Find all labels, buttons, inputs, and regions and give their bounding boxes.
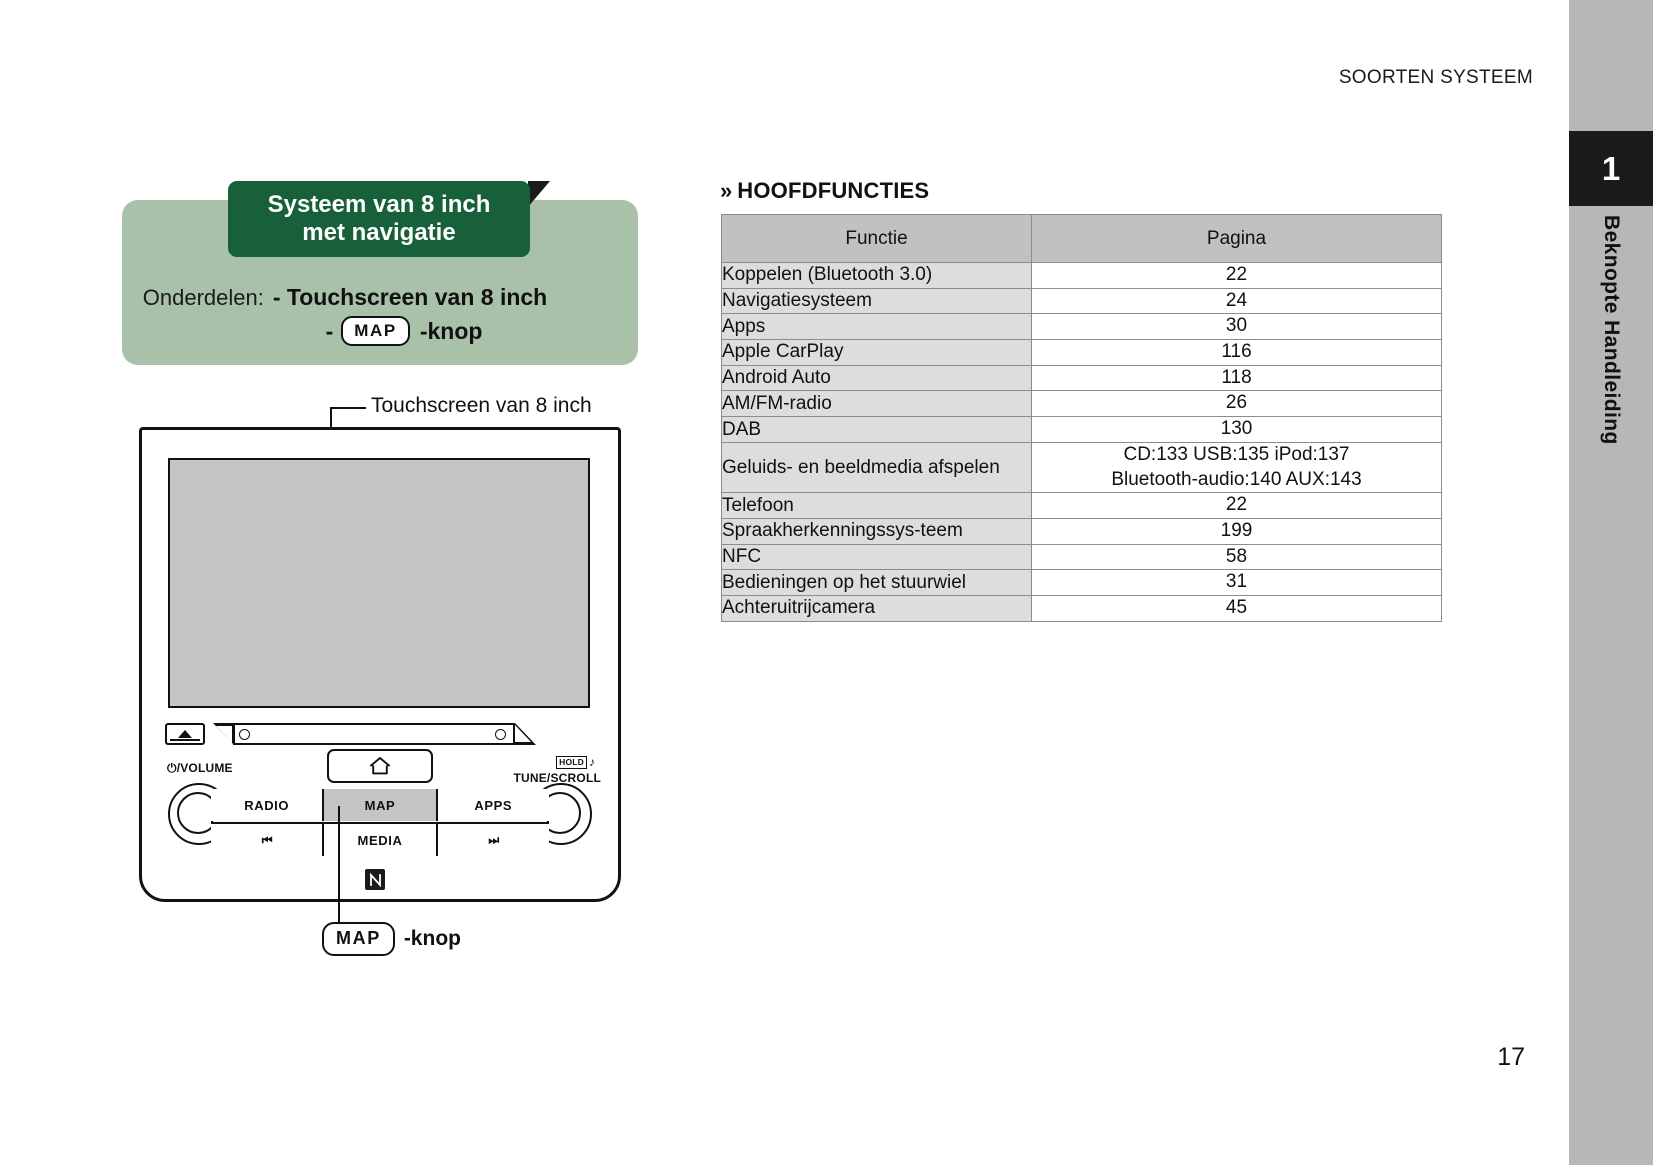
page-ref: 45 [1032,596,1441,621]
page-ref: 58 [1032,545,1441,570]
eject-icon [178,730,192,738]
table-header-row: Functie Pagina [722,215,1442,263]
head-unit-diagram: ⏻/VOLUME HOLD ♪ TUNE/SCROLL RADIO MAP AP… [139,427,621,902]
table-row: NFC58 [722,544,1442,570]
cell-pagina: 199 [1032,518,1442,544]
parts-item-1-dash: - [273,284,281,310]
previous-track-icon: ⏮ [262,833,272,848]
page-ref: 118 [1032,366,1441,391]
cell-functie: DAB [722,417,1032,443]
cell-pagina: 26 [1032,391,1442,417]
slot-indicator-right-icon [495,729,506,740]
map-button-callout-suffix: -knop [404,927,461,951]
main-functions-table: Functie Pagina Koppelen (Bluetooth 3.0)2… [721,214,1442,622]
table-row: Achteruitrijcamera45 [722,595,1442,621]
chapter-number: 1 [1602,152,1620,185]
table-row: DAB130 [722,417,1442,443]
cell-pagina: 116 [1032,340,1442,366]
page-ref: Bluetooth-audio:140 AUX:143 [1032,468,1441,493]
chapter-number-tab[interactable]: 1 [1569,131,1653,206]
table-row: Apps30 [722,314,1442,340]
cell-functie: Achteruitrijcamera [722,595,1032,621]
parts-label: Onderdelen: [143,285,264,311]
cell-functie: Apple CarPlay [722,340,1032,366]
page-ref: 22 [1032,263,1441,288]
section-heading: » HOOFDFUNCTIES [720,178,929,204]
column-header-functie: Functie [722,215,1032,263]
parts-row-2: - MAP -knop [0,316,690,346]
right-column: » HOOFDFUNCTIES Functie Pagina Koppelen … [700,0,1500,1165]
map-button-leader-line [338,806,340,924]
table-row: Apple CarPlay116 [722,340,1442,366]
cell-pagina: 22 [1032,493,1442,519]
cell-pagina: 24 [1032,288,1442,314]
cell-pagina: 118 [1032,365,1442,391]
table-row: AM/FM-radio26 [722,391,1442,417]
cell-functie: Geluids- en beeldmedia afspelen [722,442,1032,492]
banner-line-2: met navigatie [302,219,455,247]
chapter-rail: 1 Beknopte Handleiding [1569,0,1653,1165]
page-ref: 30 [1032,314,1441,339]
touchscreen-leader-horizontal [330,407,366,409]
cell-functie: Apps [722,314,1032,340]
map-button-chip-bottom: MAP [322,922,395,956]
home-button[interactable] [327,749,433,783]
table-row: Navigatiesysteem24 [722,288,1442,314]
button-cluster: RADIO MAP APPS ⏮ MEDIA ⏭ [211,789,549,855]
table-row: Geluids- en beeldmedia afspelenCD:133 US… [722,442,1442,492]
table-row: Android Auto118 [722,365,1442,391]
system-callout-banner: Systeem van 8 inch met navigatie [228,181,530,257]
map-button-chip: MAP [341,316,410,346]
cell-pagina: 45 [1032,595,1442,621]
cell-functie: AM/FM-radio [722,391,1032,417]
cell-pagina: 130 [1032,417,1442,443]
cell-functie: NFC [722,544,1032,570]
page-ref: 116 [1032,340,1441,365]
table-body: Koppelen (Bluetooth 3.0)22Navigatiesyste… [722,263,1442,622]
slot-body [233,723,515,745]
map-button-callout: MAP -knop [322,922,461,956]
nfc-icon [365,869,385,890]
cell-functie: Spraakherkenningssys-teem [722,518,1032,544]
touchscreen-callout-label: Touchscreen van 8 inch [371,394,592,418]
page-ref: 22 [1032,493,1441,518]
media-button[interactable]: MEDIA [324,824,437,856]
cell-functie: Telefoon [722,493,1032,519]
music-note-icon: ♪ [589,756,595,768]
parts-row-1: Onderdelen: - Touchscreen van 8 inch [0,284,690,311]
volume-knob-label: ⏻/VOLUME [167,761,233,776]
banner-line-1: Systeem van 8 inch [268,191,491,219]
parts-item-2-dash: - [326,318,334,345]
cell-pagina: CD:133 USB:135 iPod:137Bluetooth-audio:1… [1032,442,1442,492]
table-row: Spraakherkenningssys-teem199 [722,518,1442,544]
cell-pagina: 58 [1032,544,1442,570]
page-ref: 199 [1032,519,1441,544]
cell-pagina: 31 [1032,570,1442,596]
rail-label-wrap: Beknopte Handleiding [1569,215,1653,775]
home-icon [369,756,391,776]
next-track-icon: ⏭ [488,833,498,848]
next-track-button[interactable]: ⏭ [438,824,549,856]
previous-track-button[interactable]: ⏮ [211,824,324,856]
hold-badge: HOLD ♪ [556,756,595,769]
chapter-tab-top [1569,0,1653,75]
disc-slot [213,723,535,745]
cell-pagina: 22 [1032,263,1442,289]
chevron-double-right-icon: » [720,180,732,202]
eject-button[interactable] [165,723,205,745]
rail-label: Beknopte Handleiding [1599,215,1623,445]
parts-item-1: - Touchscreen van 8 inch [273,284,547,311]
apps-button[interactable]: APPS [438,789,549,821]
page-ref: CD:133 USB:135 iPod:137 [1032,443,1441,468]
hold-chip-label: HOLD [556,756,587,769]
map-button[interactable]: MAP [324,789,437,821]
page-ref: 130 [1032,417,1441,442]
left-column: Systeem van 8 inch met navigatie Onderde… [0,0,690,1165]
page-ref: 24 [1032,289,1441,314]
button-row-top: RADIO MAP APPS [211,789,549,821]
page-number: 17 [1497,1043,1525,1072]
cell-functie: Koppelen (Bluetooth 3.0) [722,263,1032,289]
radio-button[interactable]: RADIO [211,789,324,821]
slot-left-wedge-inner [216,726,232,743]
button-row-bottom: ⏮ MEDIA ⏭ [211,822,549,856]
touchscreen-display [168,458,590,708]
table-row: Bedieningen op het stuurwiel31 [722,570,1442,596]
parts-item-2-suffix: -knop [420,318,483,345]
column-header-pagina: Pagina [1032,215,1442,263]
table-row: Telefoon22 [722,493,1442,519]
section-heading-text: HOOFDFUNCTIES [737,178,929,204]
slot-indicator-left-icon [239,729,250,740]
eject-icon-bar [170,739,200,741]
table-row: Koppelen (Bluetooth 3.0)22 [722,263,1442,289]
cell-functie: Navigatiesysteem [722,288,1032,314]
cell-pagina: 30 [1032,314,1442,340]
cell-functie: Android Auto [722,365,1032,391]
page-ref: 31 [1032,570,1441,595]
slot-right-wedge-inner [515,725,531,742]
parts-item-1-text: Touchscreen van 8 inch [287,284,547,310]
banner-fold-corner [528,181,550,207]
cell-functie: Bedieningen op het stuurwiel [722,570,1032,596]
page-ref: 26 [1032,391,1441,416]
